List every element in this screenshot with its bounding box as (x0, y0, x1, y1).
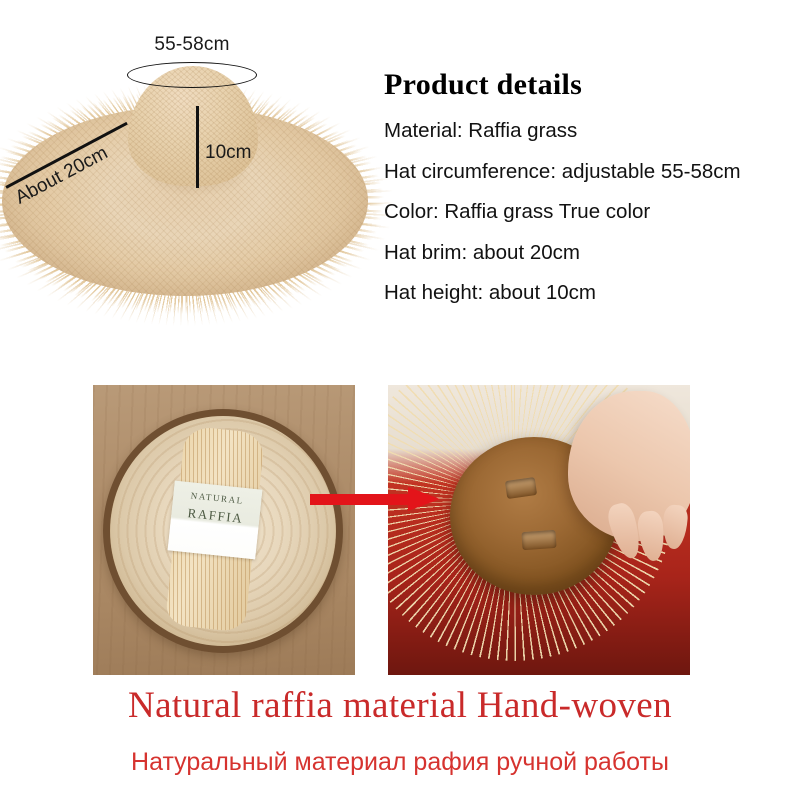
arrow-shaft (310, 494, 410, 505)
process-arrow-icon (310, 487, 440, 511)
spec-material: Material: Raffia grass (384, 121, 800, 142)
spec-height: Hat height: about 10cm (384, 283, 800, 304)
caption-russian: Натуральный материал рафия ручной работы (0, 748, 800, 777)
product-details-panel: Product details Material: Raffia grass H… (384, 68, 800, 324)
circumference-label: 55-58cm (127, 34, 257, 56)
hand-weaving-photo (388, 385, 690, 675)
mold-slot-lower (521, 530, 556, 550)
spec-color: Color: Raffia grass True color (384, 202, 800, 223)
spec-circumference: Hat circumference: adjustable 55-58cm (384, 162, 800, 183)
product-details-heading: Product details (384, 68, 800, 102)
raffia-bundle-photo: NATURAL RAFFIA (93, 385, 355, 675)
circumference-ellipse-marker (127, 62, 257, 88)
hat-dimension-figure: 55-58cm 10cm About 20cm (0, 8, 370, 338)
raffia-bundle-label: NATURAL RAFFIA (168, 481, 263, 560)
spec-brim: Hat brim: about 20cm (384, 243, 800, 264)
height-measure-line (196, 106, 199, 188)
product-detail-page: 55-58cm 10cm About 20cm Product details … (0, 0, 800, 800)
height-label: 10cm (205, 142, 251, 164)
arrow-head (408, 487, 440, 511)
caption-english: Natural raffia material Hand-woven (0, 684, 800, 727)
